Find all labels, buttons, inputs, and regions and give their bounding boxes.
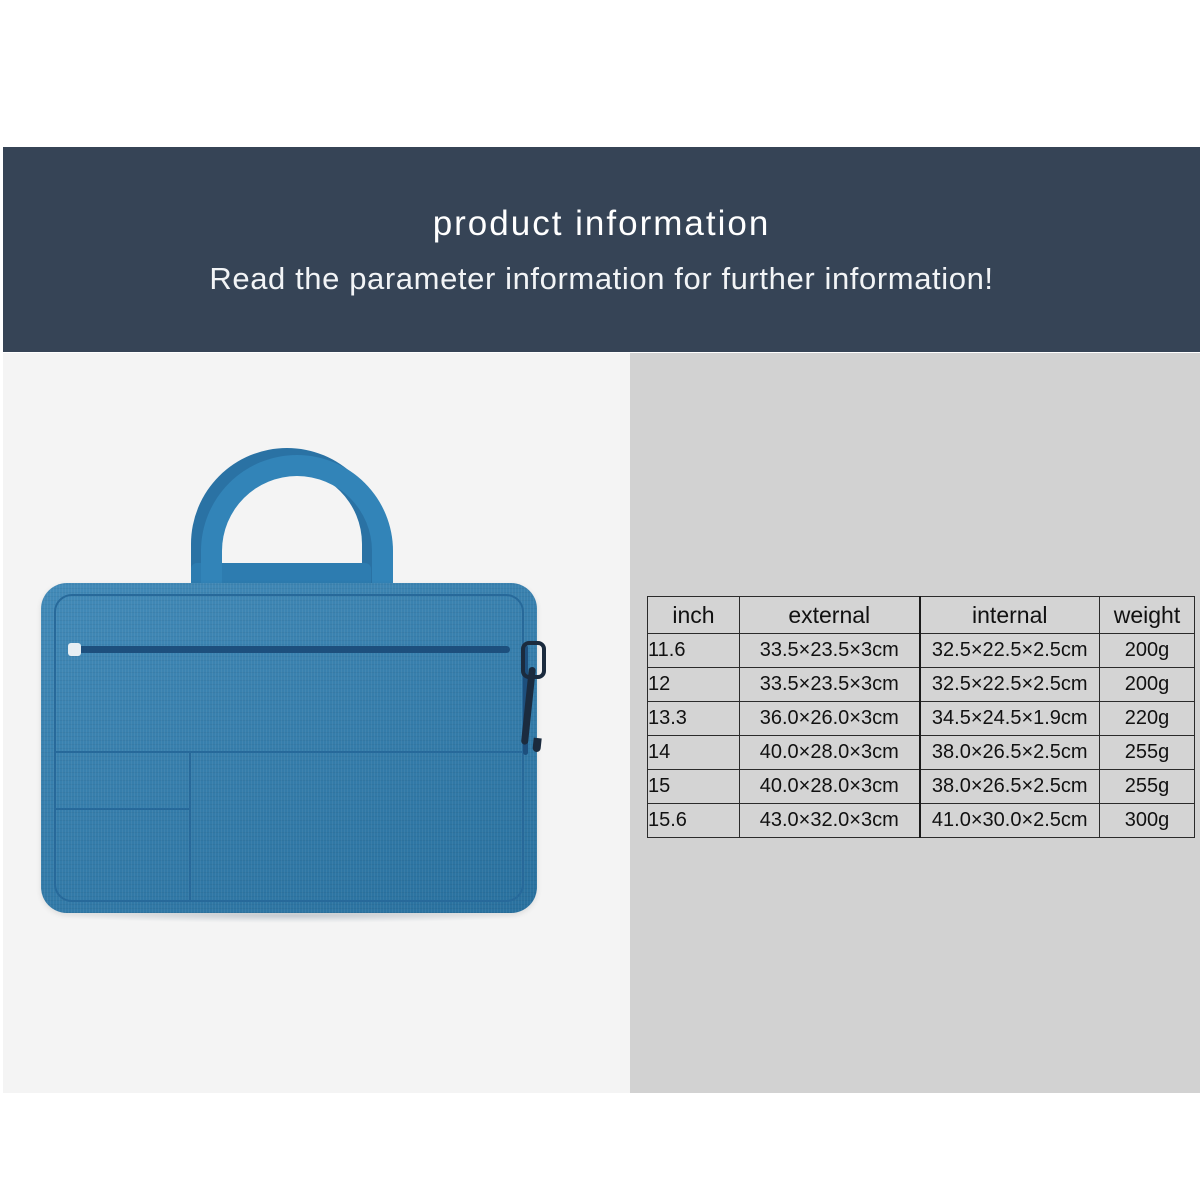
cell-external: 43.0×32.0×3cm xyxy=(740,804,920,838)
cell-weight: 255g xyxy=(1100,736,1195,770)
cell-external: 33.5×23.5×3cm xyxy=(740,668,920,702)
table-row: 11.6 33.5×23.5×3cm 32.5×22.5×2.5cm 200g xyxy=(648,634,1195,668)
cell-inch: 15.6 xyxy=(648,804,740,838)
cell-weight: 200g xyxy=(1100,634,1195,668)
laptop-bag-illustration xyxy=(41,583,537,913)
zipper-pull-tip xyxy=(532,738,541,753)
table-header-row: inch external internal weight xyxy=(648,597,1195,634)
cell-weight: 200g xyxy=(1100,668,1195,702)
product-photo xyxy=(3,353,630,1093)
cell-inch: 13.3 xyxy=(648,702,740,736)
table-row: 15.6 43.0×32.0×3cm 41.0×30.0×2.5cm 300g xyxy=(648,804,1195,838)
column-header-inch: inch xyxy=(648,597,740,634)
cell-inch: 15 xyxy=(648,770,740,804)
specification-table: inch external internal weight 11.6 33.5×… xyxy=(647,596,1195,838)
page-title: product information xyxy=(433,206,771,241)
cell-internal: 32.5×22.5×2.5cm xyxy=(920,634,1100,668)
spec-table-wrapper: inch external internal weight 11.6 33.5×… xyxy=(647,596,1194,838)
table-row: 12 33.5×23.5×3cm 32.5×22.5×2.5cm 200g xyxy=(648,668,1195,702)
cell-weight: 300g xyxy=(1100,804,1195,838)
cell-external: 36.0×26.0×3cm xyxy=(740,702,920,736)
cell-internal: 34.5×24.5×1.9cm xyxy=(920,702,1100,736)
cell-external: 40.0×28.0×3cm xyxy=(740,770,920,804)
cell-weight: 255g xyxy=(1100,770,1195,804)
cell-internal: 38.0×26.5×2.5cm xyxy=(920,770,1100,804)
specification-panel: inch external internal weight 11.6 33.5×… xyxy=(630,353,1200,1093)
product-image-panel xyxy=(3,353,630,1093)
cell-internal: 32.5×22.5×2.5cm xyxy=(920,668,1100,702)
column-header-internal: internal xyxy=(920,597,1100,634)
cell-inch: 12 xyxy=(648,668,740,702)
cell-internal: 41.0×30.0×2.5cm xyxy=(920,804,1100,838)
page-subtitle: Read the parameter information for furth… xyxy=(209,263,993,294)
bag-small-pocket xyxy=(54,808,189,904)
product-information-banner: product information Read the parameter i… xyxy=(3,147,1200,352)
table-row: 13.3 36.0×26.0×3cm 34.5×24.5×1.9cm 220g xyxy=(648,702,1195,736)
cell-weight: 220g xyxy=(1100,702,1195,736)
zipper-end-cap xyxy=(68,643,81,656)
table-row: 15 40.0×28.0×3cm 38.0×26.5×2.5cm 255g xyxy=(648,770,1195,804)
cell-external: 33.5×23.5×3cm xyxy=(740,634,920,668)
bag-body xyxy=(41,583,537,913)
cell-external: 40.0×28.0×3cm xyxy=(740,736,920,770)
bag-pocket-divider xyxy=(189,753,191,902)
front-pocket-zipper xyxy=(68,646,510,653)
column-header-external: external xyxy=(740,597,920,634)
cell-inch: 11.6 xyxy=(648,634,740,668)
cell-inch: 14 xyxy=(648,736,740,770)
column-header-weight: weight xyxy=(1100,597,1195,634)
table-row: 14 40.0×28.0×3cm 38.0×26.5×2.5cm 255g xyxy=(648,736,1195,770)
cell-internal: 38.0×26.5×2.5cm xyxy=(920,736,1100,770)
